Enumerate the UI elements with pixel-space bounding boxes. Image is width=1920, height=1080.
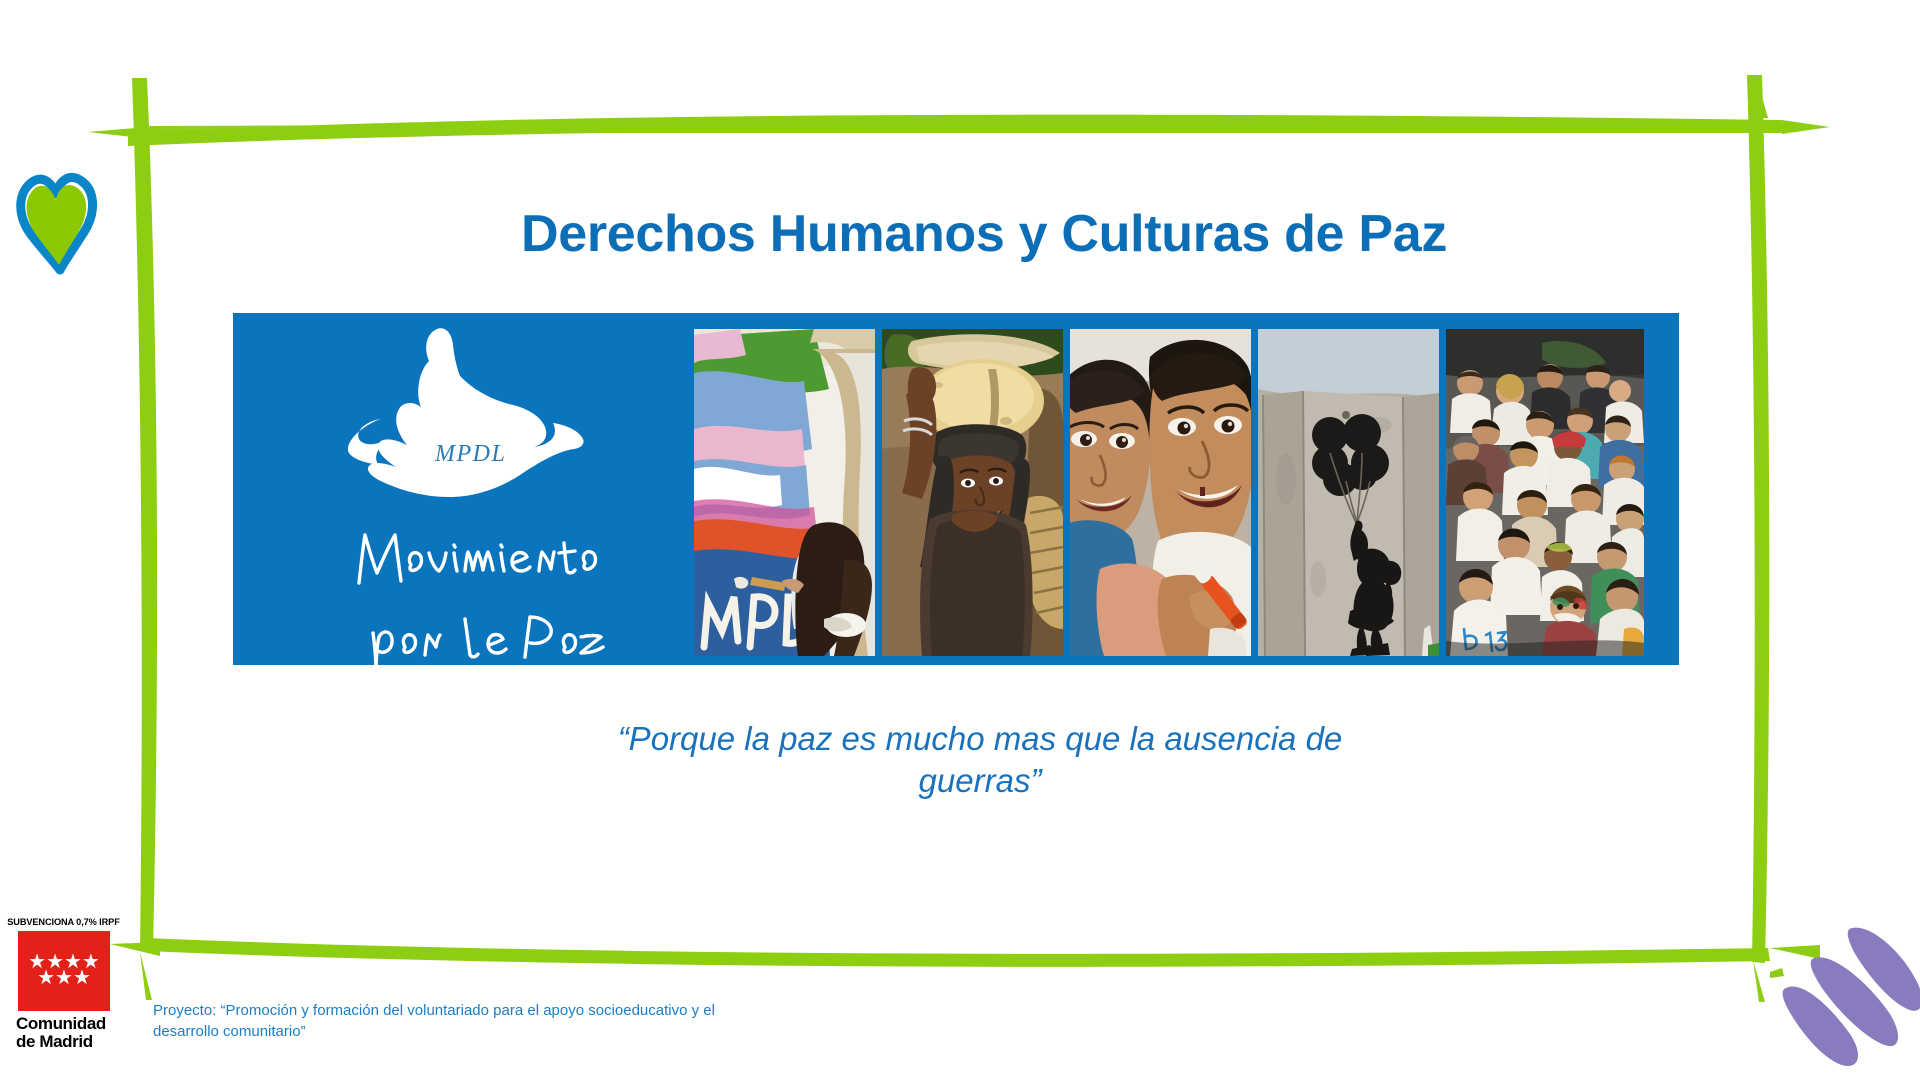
photo-two-smiling-boys bbox=[1070, 329, 1251, 656]
dove-icon: MPDL bbox=[233, 313, 680, 665]
stars-row-2: ★★★ bbox=[37, 971, 91, 987]
mpdl-bird-label: MPDL bbox=[434, 441, 506, 467]
page-title: Derechos Humanos y Culturas de Paz bbox=[0, 207, 1920, 262]
photo-wall-graffiti-girl-balloons bbox=[1258, 329, 1439, 656]
footer-line-1: Proyecto: “Promoción y formación del vol… bbox=[153, 1002, 584, 1019]
quote-text: “Porque la paz es mucho mas que la ausen… bbox=[560, 718, 1400, 802]
madrid-logo-name: Comunidad de Madrid bbox=[16, 1015, 122, 1052]
photo-woman-carrying-gourd bbox=[882, 329, 1063, 656]
decorative-purple-petals bbox=[1770, 910, 1920, 1080]
photo-mural-painting bbox=[694, 329, 875, 656]
subvenciona-label: SUBVENCIONA 0,7% IRPF bbox=[5, 917, 122, 927]
madrid-name-line-2: de Madrid bbox=[16, 1033, 122, 1051]
comunidad-de-madrid-logo: SUBVENCIONA 0,7% IRPF ★★★★ ★★★ Comunidad… bbox=[6, 917, 122, 1052]
madrid-flag-block: ★★★★ ★★★ bbox=[18, 931, 110, 1011]
photo-volunteer-group bbox=[1446, 329, 1644, 656]
project-footer-text: Proyecto: “Promoción y formación del vol… bbox=[153, 1000, 773, 1043]
madrid-name-line-1: Comunidad bbox=[16, 1015, 122, 1033]
slide-canvas: Derechos Humanos y Culturas de Paz MPDL bbox=[0, 0, 1920, 1080]
banner-image-strip: MPDL bbox=[233, 313, 1679, 665]
photo-strip bbox=[680, 313, 1679, 665]
